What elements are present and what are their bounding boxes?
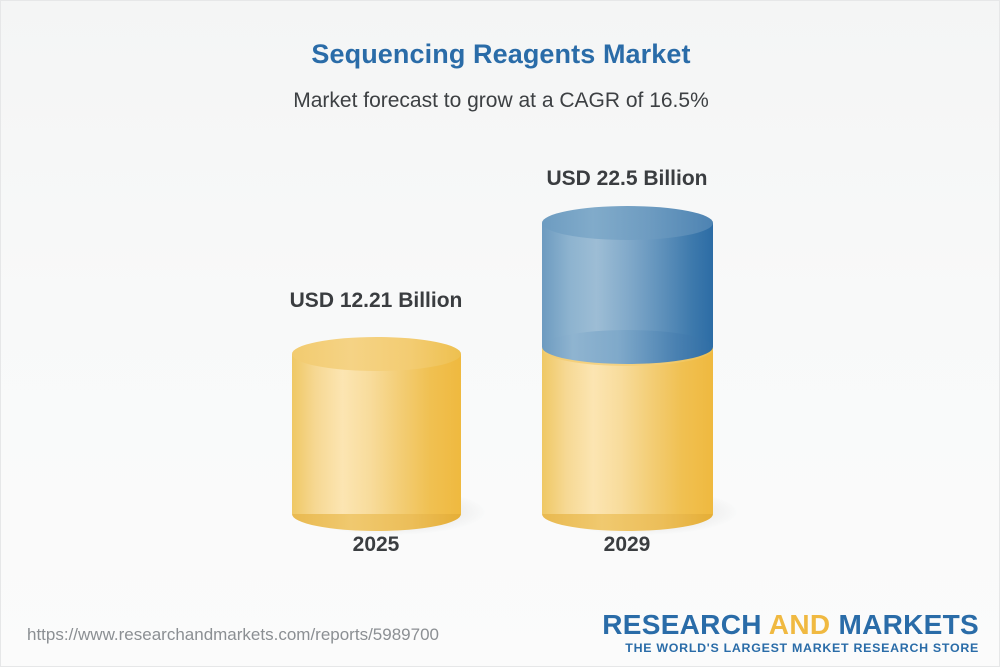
- brand-word-research: RESEARCH: [602, 609, 762, 640]
- cylinder-bar-2025: [292, 337, 461, 517]
- cylinder-base-top-ellipse: [292, 337, 461, 371]
- cylinder-base-body: [292, 354, 461, 514]
- cylinder-bar-2029: [542, 206, 713, 517]
- cylinder-base-body: [542, 349, 713, 514]
- bar-category-label-2025: 2025: [276, 533, 476, 557]
- brand-logo[interactable]: RESEARCH AND MARKETS THE WORLD'S LARGEST…: [602, 610, 979, 655]
- brand-name: RESEARCH AND MARKETS: [602, 610, 979, 639]
- brand-tagline: THE WORLD'S LARGEST MARKET RESEARCH STOR…: [602, 641, 979, 655]
- cylinder-growth-bottom-ellipse: [542, 330, 713, 364]
- footer: https://www.researchandmarkets.com/repor…: [1, 604, 1000, 666]
- cylinder-segment-base: [292, 337, 461, 517]
- cylinder-growth-body: [542, 223, 713, 347]
- brand-word-markets: MARKETS: [838, 609, 979, 640]
- plot-area: USD 12.21 Billion 2025 USD 22.5 Billion: [1, 1, 1000, 601]
- cylinder-growth-top-ellipse: [542, 206, 713, 240]
- cylinder-segment-growth: [542, 206, 713, 366]
- bar-value-label-2029: USD 22.5 Billion: [527, 167, 727, 191]
- report-url[interactable]: https://www.researchandmarkets.com/repor…: [27, 625, 439, 645]
- chart-canvas: Sequencing Reagents Market Market foreca…: [0, 0, 1000, 667]
- bar-category-label-2029: 2029: [527, 533, 727, 557]
- brand-word-and: AND: [769, 609, 831, 640]
- bar-value-label-2025: USD 12.21 Billion: [276, 289, 476, 313]
